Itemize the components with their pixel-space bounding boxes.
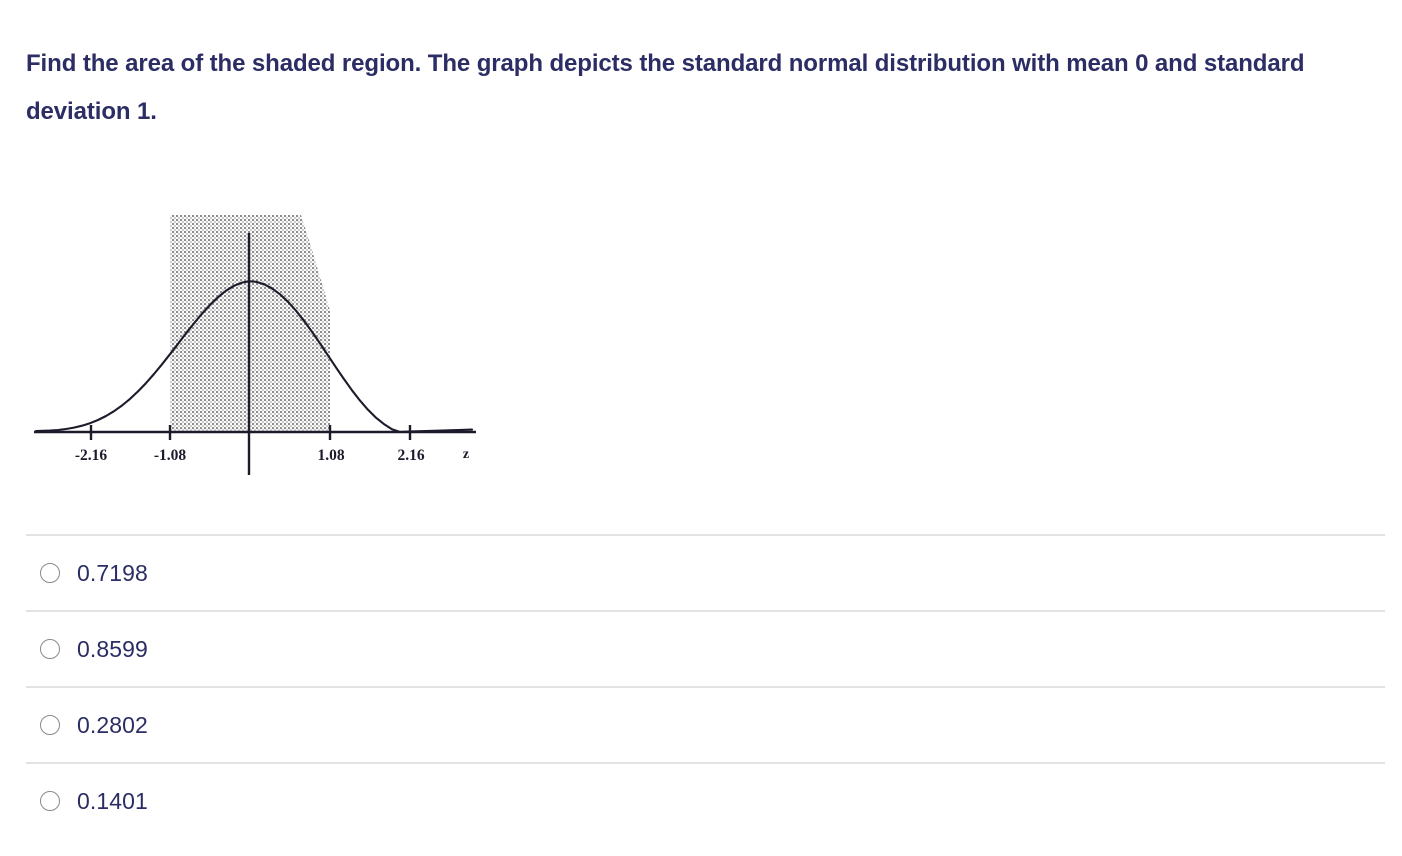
tick-label-pos-2-16: 2.16 — [397, 447, 424, 464]
answer-choice-label-3: 0.2802 — [77, 714, 148, 737]
tick-label-neg-2-16: -2.16 — [75, 447, 108, 464]
question-prompt: Find the area of the shaded region. The … — [26, 40, 1346, 136]
x-axis-label-z: z — [463, 447, 469, 462]
axis-tick-labels: -2.16 -1.08 1.08 2.16 z — [75, 447, 469, 464]
radio-button-icon-1[interactable] — [40, 563, 60, 583]
answer-choice-list: 0.7198 0.8599 0.2802 0.1401 — [26, 534, 1385, 838]
answer-choice-label-1: 0.7198 — [77, 562, 148, 585]
normal-curve-chart: -2.16 -1.08 1.08 2.16 z — [0, 215, 520, 490]
answer-choice-row-1[interactable]: 0.7198 — [26, 534, 1385, 610]
answer-choice-row-3[interactable]: 0.2802 — [26, 686, 1385, 762]
answer-choice-row-2[interactable]: 0.8599 — [26, 610, 1385, 686]
answer-choice-label-2: 0.8599 — [77, 638, 148, 661]
tick-label-pos-1-08: 1.08 — [317, 447, 344, 464]
tick-label-neg-1-08: -1.08 — [154, 447, 187, 464]
radio-button-icon-3[interactable] — [40, 715, 60, 735]
radio-button-icon-2[interactable] — [40, 639, 60, 659]
radio-button-icon-4[interactable] — [40, 791, 60, 811]
normal-distribution-figure: -2.16 -1.08 1.08 2.16 z — [0, 215, 520, 490]
answer-choice-row-4[interactable]: 0.1401 — [26, 762, 1385, 838]
answer-choice-label-4: 0.1401 — [77, 790, 148, 813]
